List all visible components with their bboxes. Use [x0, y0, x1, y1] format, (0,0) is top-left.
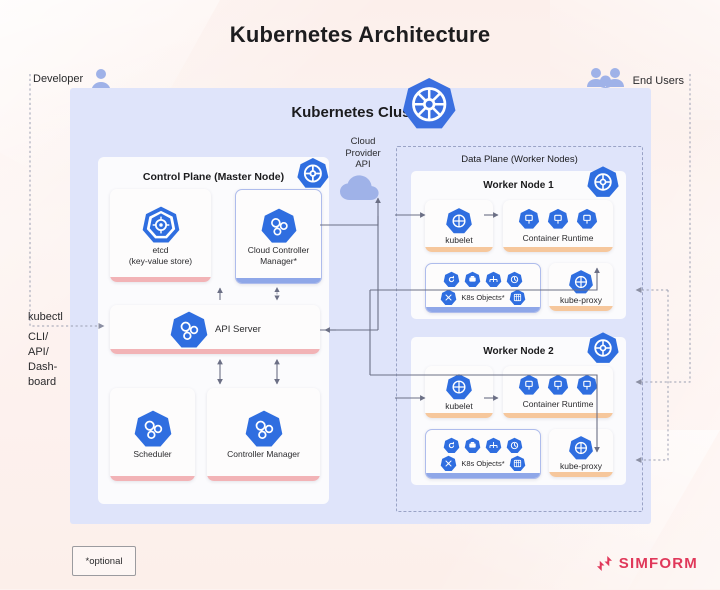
etcd-label: etcd(key-value store) [129, 245, 192, 266]
container-runtime-label: Container Runtime [523, 233, 594, 244]
component-kube-proxy[interactable]: kube-proxy [549, 263, 613, 311]
k8s-objects-icons-row-1 [443, 271, 523, 288]
kubelet-label: kubelet [445, 401, 472, 412]
replicaset-icon [506, 437, 523, 454]
kubectl-label: kubectl [28, 311, 63, 323]
cli-api-dashboard-label: CLI/API/Dash-board [28, 330, 57, 389]
k8s-objects-icons-row-2: K8s Objects* [440, 455, 525, 472]
deployment-icon [464, 437, 481, 454]
daemonset-icon [440, 289, 457, 306]
container-icon [547, 208, 569, 230]
end-users-label: End Users [633, 75, 684, 87]
control-plane-title: Control Plane (Master Node) [98, 171, 329, 183]
replicaset-icon [506, 271, 523, 288]
pod-icon [443, 437, 460, 454]
component-kubelet[interactable]: kubelet [425, 366, 493, 418]
component-scheduler[interactable]: Scheduler [110, 388, 195, 481]
deployment-icon [464, 271, 481, 288]
data-plane-title: Data Plane (Worker Nodes) [397, 154, 642, 165]
page-title: Kubernetes Architecture [0, 22, 720, 48]
simform-wordmark: SIMFORM [619, 555, 698, 572]
scheduler-label: Scheduler [133, 449, 171, 460]
component-cloud-controller-manager[interactable]: Cloud ControllerManager* [235, 189, 322, 284]
component-k8s-objects[interactable]: K8s Objects* [425, 263, 541, 313]
container-icon [547, 374, 569, 396]
worker-node-1: Worker Node 1 kubelet [411, 171, 626, 319]
api-server-label: API Server [215, 324, 261, 336]
cloud-icon [337, 173, 389, 203]
component-api-server[interactable]: API Server [110, 305, 320, 354]
kubernetes-wheel-icon [586, 165, 620, 199]
configmap-icon [509, 455, 526, 472]
component-container-runtime[interactable]: Container Runtime [503, 366, 613, 418]
cloud-provider-api-label: CloudProviderAPI [333, 136, 393, 171]
component-etcd[interactable]: etcd(key-value store) [110, 189, 211, 282]
simform-logo-icon [595, 554, 614, 573]
c-m-icon [244, 409, 284, 449]
kube-proxy-icon [568, 269, 594, 295]
container-runtime-icons [518, 374, 598, 396]
cluster-title: Kubernetes Cluster [70, 104, 651, 121]
cloud-provider-api: CloudProviderAPI [333, 136, 393, 208]
container-icon [518, 208, 540, 230]
brand-simform: SIMFORM [595, 554, 698, 573]
api-icon [169, 310, 209, 350]
service-icon [485, 437, 502, 454]
k8s-objects-label: K8s Objects* [461, 459, 504, 468]
data-plane-box: Data Plane (Worker Nodes) Worker Node 1 [396, 146, 643, 512]
kube-proxy-icon [568, 435, 594, 461]
container-runtime-label: Container Runtime [523, 399, 594, 410]
daemonset-icon [440, 455, 457, 472]
container-icon [576, 208, 598, 230]
container-icon [518, 374, 540, 396]
developer-label: Developer [33, 73, 83, 85]
kubelet-icon [445, 373, 473, 401]
worker-node-2: Worker Node 2 kubelet [411, 337, 626, 485]
component-k8s-objects[interactable]: K8s Objects* [425, 429, 541, 479]
cloud-controller-manager-label: Cloud ControllerManager* [248, 245, 309, 266]
sched-icon [133, 409, 173, 449]
pod-icon [443, 271, 460, 288]
kubelet-label: kubelet [445, 235, 472, 246]
component-controller-manager[interactable]: Controller Manager [207, 388, 320, 481]
component-kube-proxy[interactable]: kube-proxy [549, 429, 613, 477]
service-icon [485, 271, 502, 288]
kube-proxy-label: kube-proxy [560, 461, 602, 472]
component-container-runtime[interactable]: Container Runtime [503, 200, 613, 252]
k8s-objects-label: K8s Objects* [461, 293, 504, 302]
kubelet-icon [445, 207, 473, 235]
kube-proxy-label: kube-proxy [560, 295, 602, 306]
c-c-m-icon [260, 207, 298, 245]
container-icon [576, 374, 598, 396]
configmap-icon [509, 289, 526, 306]
component-kubelet[interactable]: kubelet [425, 200, 493, 252]
k8s-objects-icons-row-2: K8s Objects* [440, 289, 525, 306]
kubernetes-wheel-icon [586, 331, 620, 365]
controller-manager-label: Controller Manager [227, 449, 300, 460]
footnote-optional: *optional [72, 546, 136, 576]
diagram-canvas: Kubernetes Architecture Developer End Us… [0, 0, 720, 589]
container-runtime-icons [518, 208, 598, 230]
k8s-objects-icons-row-1 [443, 437, 523, 454]
etcd-icon [141, 205, 181, 245]
